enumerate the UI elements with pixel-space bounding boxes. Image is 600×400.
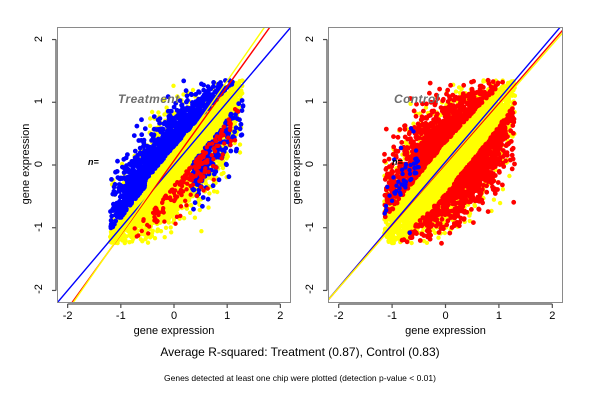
- y-tick-label-control-0: -2: [304, 279, 316, 299]
- y-tick-label-treatment-0: -2: [33, 279, 45, 299]
- x-tick-label-control-1: -1: [372, 310, 412, 322]
- y-tick-label-control-1: -1: [304, 217, 316, 237]
- y-tick-label-treatment-1: -1: [33, 217, 45, 237]
- figure-subcaption: Genes detected at least one chip were pl…: [0, 373, 600, 383]
- x-tick-label-control-3: 1: [479, 310, 519, 322]
- y-tick-label-control-4: 2: [304, 29, 316, 49]
- y-tick-label-treatment-3: 1: [33, 91, 45, 111]
- x-tick-label-control-2: 0: [426, 310, 466, 322]
- x-tick-label-treatment-1: -1: [101, 310, 141, 322]
- figure-caption: Average R-squared: Treatment (0.87), Con…: [0, 345, 600, 359]
- y-tick-label-treatment-4: 2: [33, 29, 45, 49]
- y-axis-title-treatment: gene expression: [20, 64, 32, 264]
- x-axis-title-control: gene expression: [328, 325, 563, 337]
- x-tick-label-treatment-3: 1: [207, 310, 247, 322]
- x-tick-label-treatment-0: -2: [48, 310, 88, 322]
- x-tick-label-control-0: -2: [319, 310, 359, 322]
- y-tick-label-control-3: 1: [304, 91, 316, 111]
- y-axis-title-control: gene expression: [291, 64, 303, 264]
- x-axis-title-treatment: gene expression: [57, 325, 291, 337]
- y-tick-label-treatment-2: 0: [33, 154, 45, 174]
- figure-canvas: Treatment n= Control n= -2-1012-2-1012ge…: [0, 0, 600, 400]
- y-tick-label-control-2: 0: [304, 154, 316, 174]
- x-tick-label-treatment-4: 2: [260, 310, 300, 322]
- x-tick-label-control-4: 2: [532, 310, 572, 322]
- x-tick-label-treatment-2: 0: [154, 310, 194, 322]
